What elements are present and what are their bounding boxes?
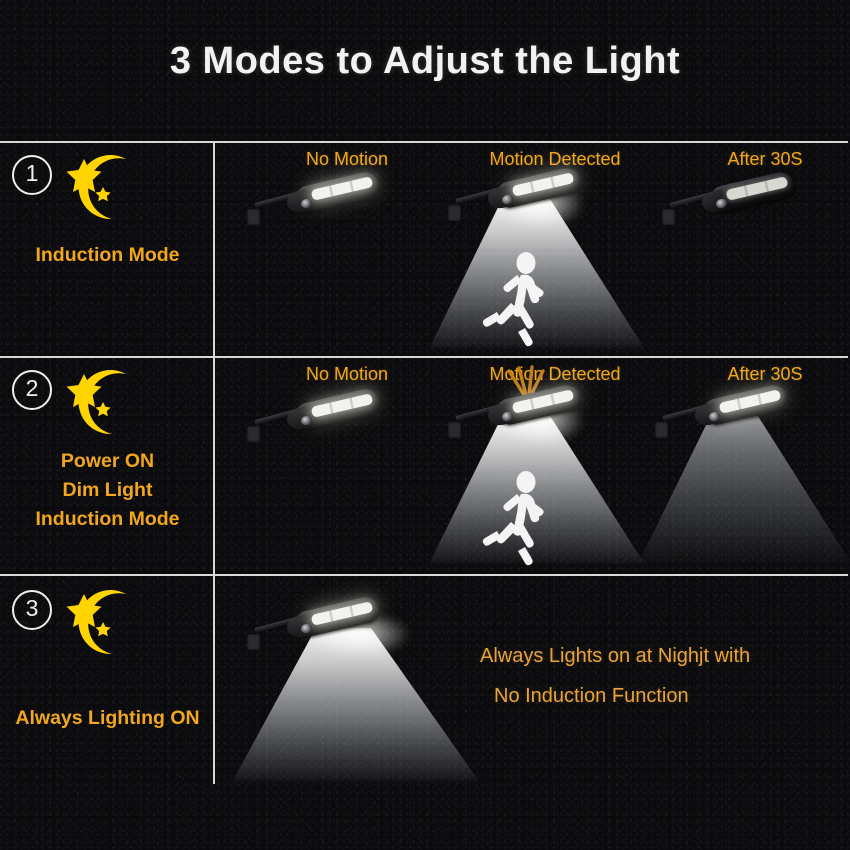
mode-2-label-line-1: Power ON [0, 447, 215, 476]
mode-row-1: 1 Induction Mode No Motion Motion Detect… [0, 143, 848, 358]
always-on-caption: Always Lights on at Nighjt with No Induc… [480, 636, 810, 716]
wall-lamp-fixture [257, 602, 377, 654]
moon-star-icon [58, 586, 150, 666]
mode-2-scenarios: No Motion Motion Detected After 30S [215, 358, 848, 574]
mode-2-label-line-2: Dim Light [0, 476, 215, 505]
mode-3-label-cell: 3 Always Lighting ON [0, 576, 215, 784]
lamp-wall-bracket [662, 209, 675, 225]
modes-grid: 1 Induction Mode No Motion Motion Detect… [0, 141, 848, 786]
lamp-wall-bracket [448, 205, 461, 221]
mode-number-badge-1: 1 [12, 155, 52, 195]
scenario-2-motion-detected [430, 358, 650, 574]
wall-lamp-fixture [458, 173, 578, 225]
scenario-2-no-motion [215, 358, 430, 574]
lamp-wall-bracket [247, 209, 260, 225]
mode-row-2: 2 Power ON Dim Light Induction Mode No M… [0, 358, 848, 576]
mode-1-label-line-1: Induction Mode [0, 241, 215, 270]
mode-3-label: Always Lighting ON [0, 704, 215, 733]
wall-lamp-fixture [257, 394, 377, 446]
wall-lamp-fixture [665, 390, 785, 442]
running-person-icon [478, 470, 556, 568]
lamp-wall-bracket [247, 426, 260, 442]
moon-star-icon [58, 366, 150, 446]
scenario-2-after-30s [645, 358, 850, 574]
mode-3-label-line-1: Always Lighting ON [0, 704, 215, 733]
always-on-caption-line-2: No Induction Function [480, 676, 810, 716]
lamp-wall-bracket [247, 634, 260, 650]
always-on-caption-line-1: Always Lights on at Nighjt with [480, 636, 810, 676]
mode-2-label: Power ON Dim Light Induction Mode [0, 447, 215, 534]
mode-2-label-line-3: Induction Mode [0, 505, 215, 534]
mode-row-3: 3 Always Lighting ON [0, 576, 848, 784]
wall-lamp-fixture [257, 177, 377, 229]
moon-star-icon [58, 151, 150, 231]
mode-1-scenarios: No Motion Motion Detected After 30S [215, 143, 848, 356]
mode-1-label-cell: 1 Induction Mode [0, 143, 215, 356]
lamp-wall-bracket [448, 422, 461, 438]
mode-number-badge-3: 3 [12, 590, 52, 630]
wall-lamp-fixture [672, 177, 792, 229]
page-title: 3 Modes to Adjust the Light [0, 40, 850, 83]
lamp-wall-bracket [655, 422, 668, 438]
wall-lamp-fixture [458, 390, 578, 442]
mode-2-label-cell: 2 Power ON Dim Light Induction Mode [0, 358, 215, 574]
scenario-1-motion-detected [430, 143, 650, 356]
mode-number-badge-2: 2 [12, 370, 52, 410]
scenario-1-after-30s [650, 143, 850, 356]
running-person-icon [478, 251, 556, 349]
scenario-1-no-motion [215, 143, 430, 356]
mode-3-scenario: Always Lights on at Nighjt with No Induc… [215, 576, 848, 784]
mode-1-label: Induction Mode [0, 241, 215, 270]
